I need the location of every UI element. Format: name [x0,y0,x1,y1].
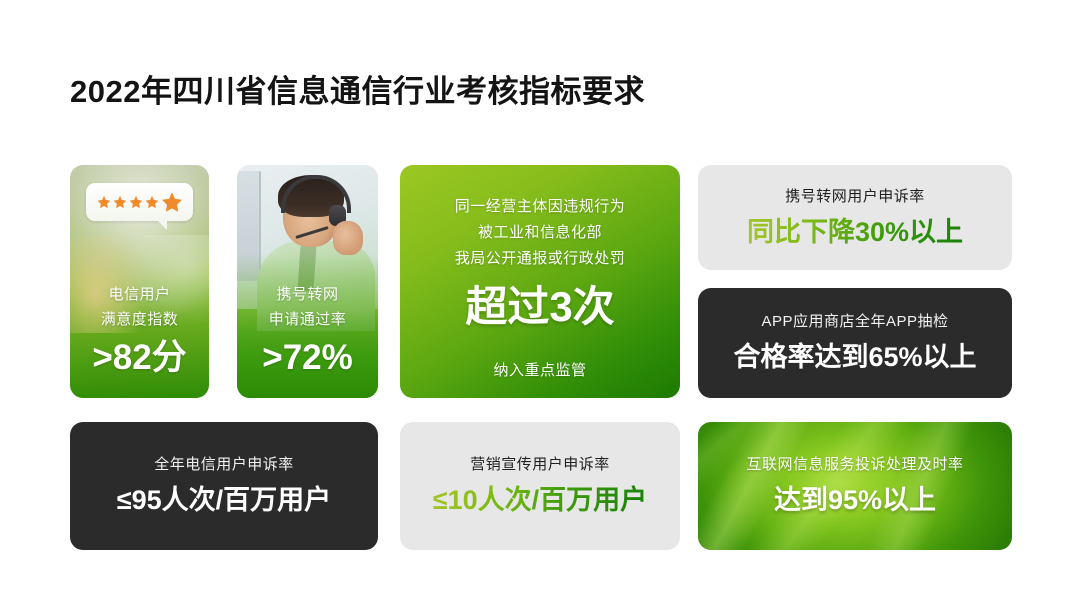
portability-caption: 携号转网 申请通过率 >72% [237,282,378,382]
card-internet-service-complaint-timeliness[interactable]: 互联网信息服务投诉处理及时率 达到95%以上 [698,422,1012,550]
app-inspection-label: APP应用商店全年APP抽检 [710,310,1000,334]
internet-service-content: 互联网信息服务投诉处理及时率 达到95%以上 [698,453,1012,519]
internet-service-label: 互联网信息服务投诉处理及时率 [710,453,1000,477]
portability-label-line2: 申请通过率 [237,307,378,332]
marketing-complaint-content: 营销宣传用户申诉率 ≤10人次/百万用户 [400,453,680,519]
violation-desc-line1: 同一经营主体因违规行为 [400,194,680,220]
card-portability-complaint-rate[interactable]: 携号转网用户申诉率 同比下降30%以上 [698,165,1012,270]
violation-description: 同一经营主体因违规行为 被工业和信息化部 我局公开通报或行政处罚 [400,194,680,272]
satisfaction-caption: 电信用户 满意度指数 >82分 [70,282,209,382]
portability-complaint-value: 同比下降30%以上 [747,213,963,251]
marketing-complaint-value-wrap: ≤10人次/百万用户 [412,481,668,519]
satisfaction-value: >82分 [70,334,209,382]
star-rating [97,191,183,213]
violation-desc-line3: 我局公开通报或行政处罚 [400,246,680,272]
page-title: 2022年四川省信息通信行业考核指标要求 [70,66,645,111]
marketing-complaint-value: ≤10人次/百万用户 [433,481,647,519]
satisfaction-label-line2: 满意度指数 [70,307,209,332]
telecom-complaint-label: 全年电信用户申诉率 [82,453,366,477]
app-inspection-content: APP应用商店全年APP抽检 合格率达到65%以上 [698,310,1012,376]
telecom-complaint-content: 全年电信用户申诉率 ≤95人次/百万用户 [70,453,378,519]
marketing-complaint-label: 营销宣传用户申诉率 [412,453,668,477]
portability-complaint-value-wrap: 同比下降30%以上 [710,213,1000,251]
app-inspection-value: 合格率达到65%以上 [710,338,1000,376]
portability-complaint-label: 携号转网用户申诉率 [710,185,1000,209]
satisfaction-label-line1: 电信用户 [70,282,209,307]
card-marketing-complaint-rate[interactable]: 营销宣传用户申诉率 ≤10人次/百万用户 [400,422,680,550]
star-icon-large [161,191,183,213]
card-telecom-complaint-rate[interactable]: 全年电信用户申诉率 ≤95人次/百万用户 [70,422,378,550]
agent-hand [333,221,363,255]
star-icon [97,195,111,209]
card-app-store-inspection[interactable]: APP应用商店全年APP抽检 合格率达到65%以上 [698,288,1012,398]
internet-service-value: 达到95%以上 [710,481,1000,519]
card-violation-supervision[interactable]: 同一经营主体因违规行为 被工业和信息化部 我局公开通报或行政处罚 超过3次 纳入… [400,165,680,398]
card-telecom-satisfaction[interactable]: 电信用户 满意度指数 >82分 [70,165,209,398]
violation-headline: 超过3次 [400,281,680,333]
star-icon [113,195,127,209]
portability-complaint-content: 携号转网用户申诉率 同比下降30%以上 [698,185,1012,251]
portability-value: >72% [237,334,378,382]
star-icon [145,195,159,209]
card-number-portability-pass-rate[interactable]: 携号转网 申请通过率 >72% [237,165,378,398]
rating-bubble [86,183,193,221]
violation-footnote: 纳入重点监管 [400,360,680,382]
violation-desc-line2: 被工业和信息化部 [400,220,680,246]
portability-label-line1: 携号转网 [237,282,378,307]
telecom-complaint-value: ≤95人次/百万用户 [82,481,366,519]
star-icon [129,195,143,209]
